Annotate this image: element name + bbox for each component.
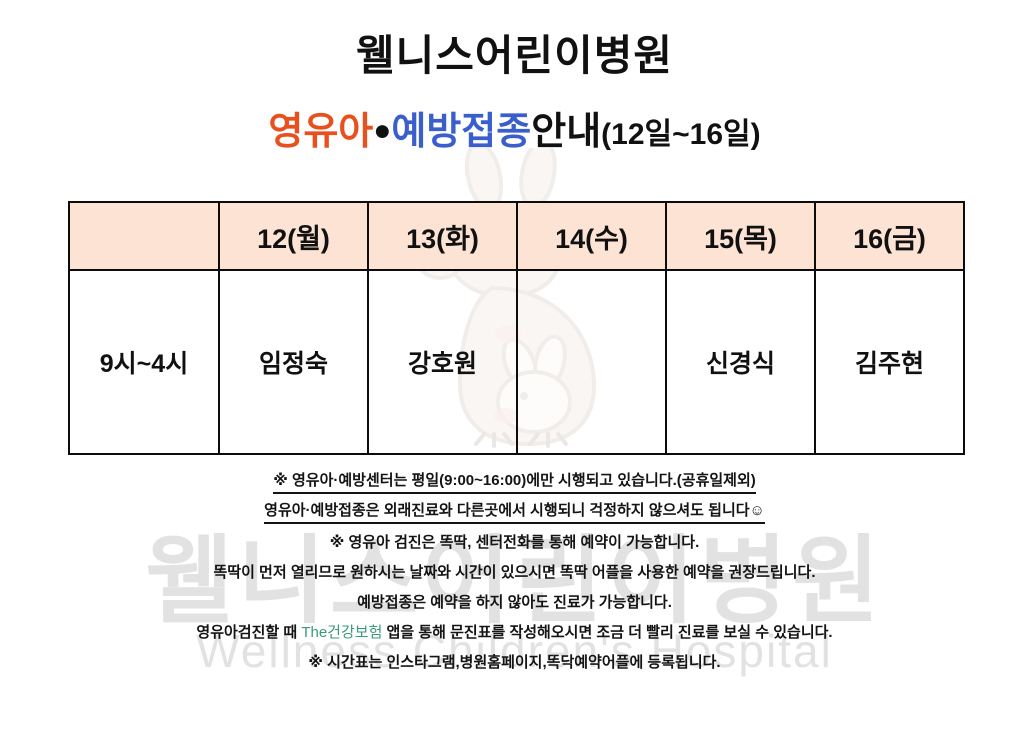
table-header-day-thu: 15(목) bbox=[666, 202, 815, 270]
table-header-day-tue: 13(화) bbox=[368, 202, 517, 270]
subtitle-segment-date-range: (12일~16일) bbox=[601, 118, 760, 151]
cell-doctor-wed bbox=[517, 270, 666, 454]
notes-section: ※ 영유아·예방센터는 평일(9:00~16:00)에만 시행되고 있습니다.(… bbox=[0, 473, 1029, 685]
note-line-separate-location: 영유아·예방접종은 외래진료와 다른곳에서 시행되니 걱정하지 않으셔도 됩니다… bbox=[0, 503, 1029, 518]
note-app-name: The건강보험 bbox=[301, 624, 382, 641]
subtitle-segment-infant: 영유아 bbox=[268, 111, 373, 153]
page-title: 웰니스어린이병원 bbox=[0, 33, 1029, 79]
note-line-center-hours: ※ 영유아·예방센터는 평일(9:00~16:00)에만 시행되고 있습니다.(… bbox=[0, 473, 1029, 488]
note-line-reservation-methods: ※ 영유아 검진은 똑딱, 센터전화를 통해 예약이 가능합니다. bbox=[0, 535, 1029, 550]
table-header-corner bbox=[69, 202, 219, 270]
subtitle-segment-guide: 안내 bbox=[531, 111, 601, 153]
row-time-label: 9시~4시 bbox=[69, 270, 219, 454]
note-line-no-reservation-needed: 예방접종은 예약을 하지 않아도 진료가 가능합니다. bbox=[0, 595, 1029, 610]
cell-doctor-tue: 강호원 bbox=[368, 270, 517, 454]
note-prefix: 영유아검진할 때 bbox=[196, 624, 301, 641]
note-text: ※ 영유아 검진은 똑딱, 센터전화를 통해 예약이 가능합니다. bbox=[330, 534, 700, 551]
note-line-schedule-posting: ※ 시간표는 인스타그램,병원홈페이지,똑닥예약어플에 등록됩니다. bbox=[0, 655, 1029, 670]
note-line-health-insurance-app: 영유아검진할 때 The건강보험 앱을 통해 문진표를 작성해오시면 조금 더 … bbox=[0, 625, 1029, 640]
cell-doctor-fri: 김주현 bbox=[815, 270, 964, 454]
note-text: 똑딱이 먼저 열리므로 원하시는 날짜와 시간이 있으시면 똑딱 어플을 사용한… bbox=[213, 564, 815, 581]
cell-doctor-mon: 임정숙 bbox=[219, 270, 368, 454]
note-line-ttokttak-recommend: 똑딱이 먼저 열리므로 원하시는 날짜와 시간이 있으시면 똑딱 어플을 사용한… bbox=[0, 565, 1029, 580]
note-text: ※ 영유아·예방센터는 평일(9:00~16:00)에만 시행되고 있습니다.(… bbox=[273, 472, 756, 494]
schedule-table: 12(월) 13(화) 14(수) 15(목) 16(금) 9시~4시 임정숙 … bbox=[68, 201, 965, 455]
table-header-day-fri: 16(금) bbox=[815, 202, 964, 270]
note-suffix: 앱을 통해 문진표를 작성해오시면 조금 더 빨리 진료를 보실 수 있습니다. bbox=[382, 624, 832, 641]
table-header-row: 12(월) 13(화) 14(수) 15(목) 16(금) bbox=[69, 202, 964, 270]
table-row: 9시~4시 임정숙 강호원 신경식 김주현 bbox=[69, 270, 964, 454]
cell-doctor-thu: 신경식 bbox=[666, 270, 815, 454]
table-header-day-mon: 12(월) bbox=[219, 202, 368, 270]
bullet-dot-icon: ● bbox=[373, 114, 391, 147]
subtitle-segment-vaccination: 예방접종 bbox=[391, 111, 531, 153]
table-header-day-wed: 14(수) bbox=[517, 202, 666, 270]
page-subtitle: 영유아●예방접종안내(12일~16일) bbox=[0, 112, 1029, 154]
note-text: 영유아·예방접종은 외래진료와 다른곳에서 시행되니 걱정하지 않으셔도 됩니다… bbox=[264, 502, 765, 524]
note-text: 예방접종은 예약을 하지 않아도 진료가 가능합니다. bbox=[357, 594, 672, 611]
note-text: ※ 시간표는 인스타그램,병원홈페이지,똑닥예약어플에 등록됩니다. bbox=[308, 654, 720, 671]
